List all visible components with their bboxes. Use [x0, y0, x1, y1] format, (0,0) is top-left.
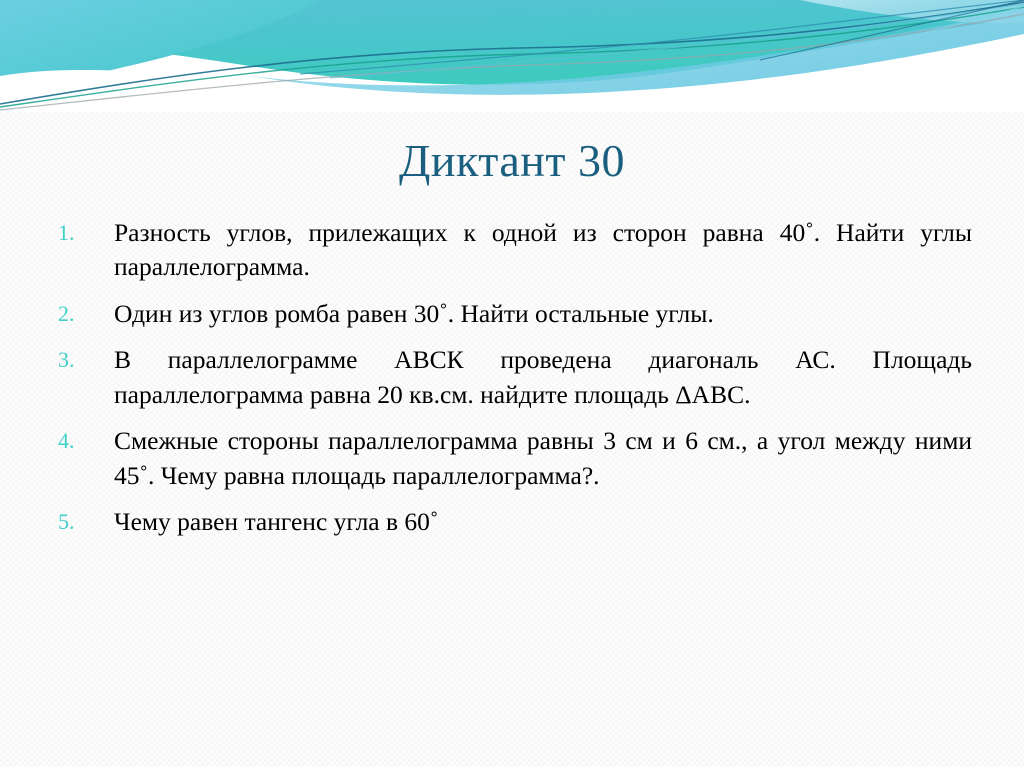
list-item-marker: 3.: [58, 343, 98, 377]
list-item: 4. Смежные стороны параллелограмма равны…: [52, 424, 972, 493]
list-item-text: В параллелограмме АВСК проведена диагона…: [114, 343, 972, 412]
page-title: Диктант 30: [0, 137, 1024, 185]
list-item-text: Чему равен тангенс угла в 60˚: [114, 505, 972, 539]
list-item-text: Смежные стороны параллелограмма равны 3 …: [114, 424, 972, 493]
header-wave-decoration: [0, 0, 1024, 112]
list-item-text: Один из углов ромба равен 30˚. Найти ост…: [114, 297, 972, 331]
list-item-marker: 1.: [58, 216, 98, 250]
list-item-text: Разность углов, прилежащих к одной из ст…: [114, 216, 972, 285]
list-item-marker: 5.: [58, 505, 98, 539]
list-item: 5. Чему равен тангенс угла в 60˚: [52, 505, 972, 539]
list-item: 3. В параллелограмме АВСК проведена диаг…: [52, 343, 972, 412]
wave-banner-svg: [0, 0, 1024, 112]
list-item-marker: 2.: [58, 297, 98, 331]
list-item: 1. Разность углов, прилежащих к одной из…: [52, 216, 972, 285]
slide-canvas: Диктант 30 1. Разность углов, прилежащих…: [0, 0, 1024, 767]
list-item-marker: 4.: [58, 424, 98, 458]
task-list: 1. Разность углов, прилежащих к одной из…: [52, 216, 972, 539]
list-item: 2. Один из углов ромба равен 30˚. Найти …: [52, 297, 972, 331]
task-list-container: 1. Разность углов, прилежащих к одной из…: [52, 216, 972, 539]
